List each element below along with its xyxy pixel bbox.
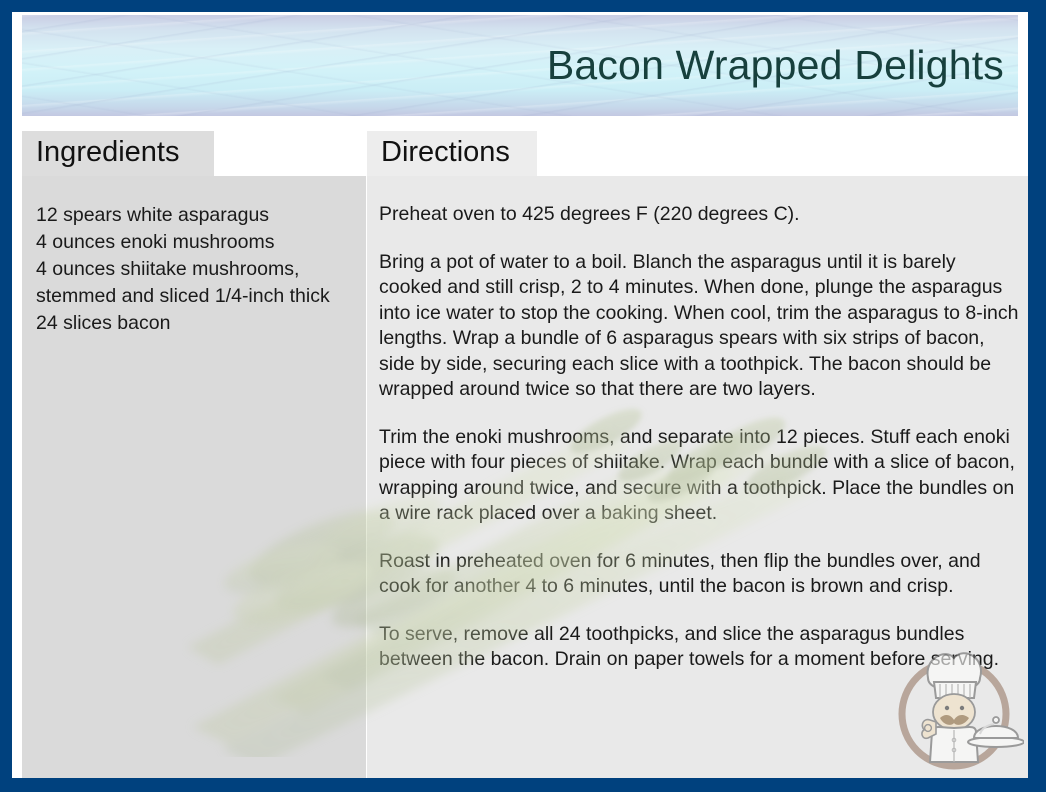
recipe-sheet: Bacon Wrapped Delights Ingredients Direc… bbox=[12, 12, 1028, 778]
directions-body: Preheat oven to 425 degrees F (220 degre… bbox=[379, 202, 1019, 673]
ingredients-list: 12 spears white asparagus 4 ounces enoki… bbox=[36, 202, 356, 337]
directions-panel: Preheat oven to 425 degrees F (220 degre… bbox=[367, 176, 1028, 778]
title-banner: Bacon Wrapped Delights bbox=[22, 15, 1018, 116]
ingredients-panel: 12 spears white asparagus 4 ounces enoki… bbox=[22, 176, 366, 778]
recipe-card-page: Bacon Wrapped Delights Ingredients Direc… bbox=[0, 0, 1046, 792]
direction-step: Roast in preheated oven for 6 minutes, t… bbox=[379, 549, 1019, 600]
directions-heading: Directions bbox=[367, 131, 537, 176]
direction-step: Bring a pot of water to a boil. Blanch t… bbox=[379, 250, 1019, 403]
direction-step: Preheat oven to 425 degrees F (220 degre… bbox=[379, 202, 1019, 228]
page-title: Bacon Wrapped Delights bbox=[547, 41, 1004, 89]
direction-step: Trim the enoki mushrooms, and separate i… bbox=[379, 425, 1019, 527]
direction-step: To serve, remove all 24 toothpicks, and … bbox=[379, 622, 1019, 673]
ingredients-heading: Ingredients bbox=[22, 131, 214, 176]
